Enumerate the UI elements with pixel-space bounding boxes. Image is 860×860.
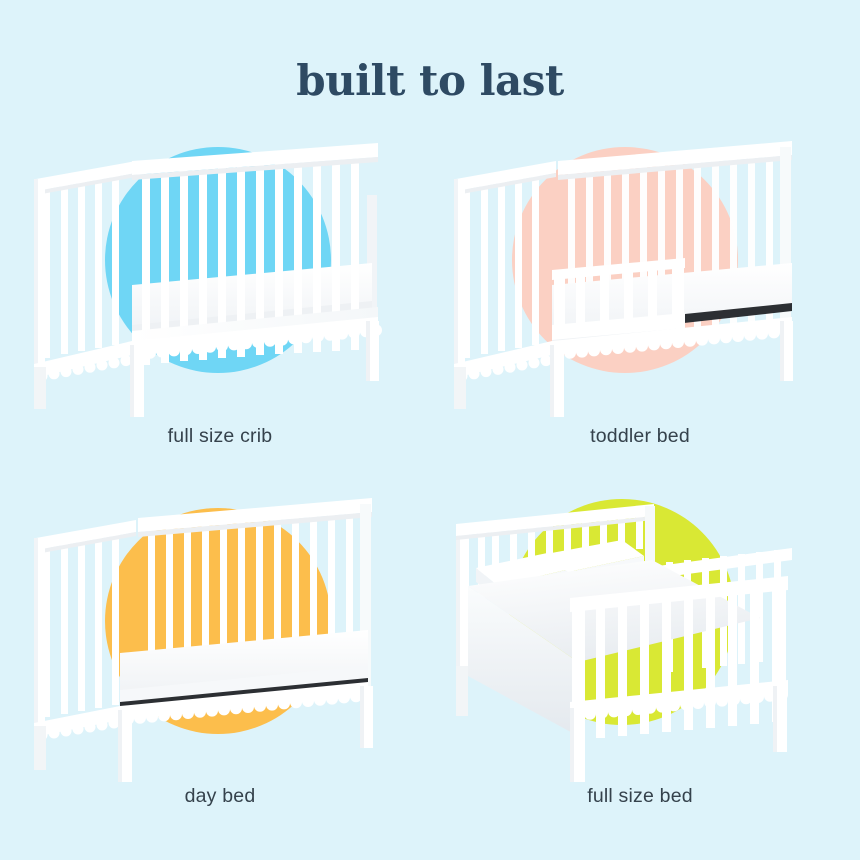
card-caption-full-size-crib: full size crib: [20, 425, 420, 448]
card-caption-day-bed: day bed: [20, 785, 420, 808]
product-card-full-size-bed: full size bed: [440, 490, 840, 820]
product-card-toddler-bed: toddler bed: [440, 135, 840, 465]
product-card-full-size-crib: full size crib: [20, 135, 420, 465]
crib-illustration-toddler-bed: [440, 135, 840, 435]
page-title: built to last: [0, 56, 860, 105]
crib-illustration-day-bed: [20, 490, 420, 790]
crib-illustration-full-size-bed: [440, 490, 840, 790]
infographic-page: built to last: [0, 0, 860, 860]
product-card-day-bed: day bed: [20, 490, 420, 820]
card-caption-full-size-bed: full size bed: [440, 785, 840, 808]
crib-illustration-full-size-crib: [20, 135, 420, 435]
card-caption-toddler-bed: toddler bed: [440, 425, 840, 448]
